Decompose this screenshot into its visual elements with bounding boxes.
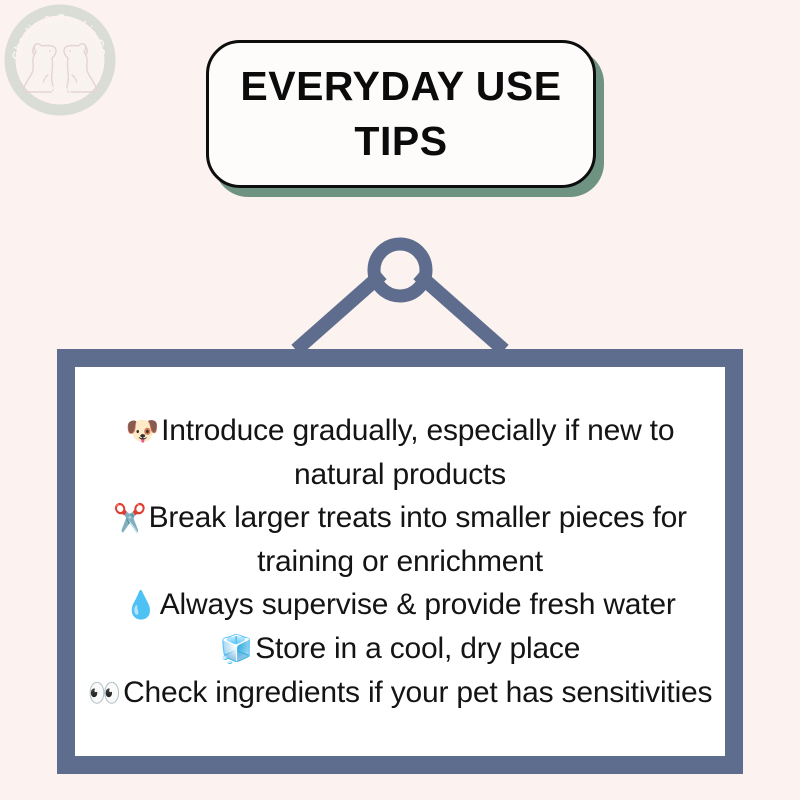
tip-text: Introduce gradually, especially if new t…: [161, 414, 674, 491]
page-title-line-2: TIPS: [354, 114, 447, 169]
tip-text: Store in a cool, dry place: [255, 632, 580, 665]
tip-text: Check ingredients if your pet has sensit…: [123, 676, 712, 709]
ice-cube-emoji: 🧊: [220, 634, 253, 664]
hanger-rope-left: [296, 274, 382, 350]
brand-watermark-logo: Charlie & Cookie Co. Dog Supplies: [4, 4, 116, 116]
tip-text: Break larger treats into smaller pieces …: [149, 501, 687, 578]
title-card: EVERYDAY USE TIPS: [206, 40, 596, 188]
svg-text:Dog Supplies: Dog Supplies: [32, 74, 88, 95]
tips-board: 🐶Introduce gradually, especially if new …: [57, 349, 743, 774]
tip-item: 🐶Introduce gradually, especially if new …: [85, 409, 715, 496]
dog-face-emoji: 🐶: [126, 416, 159, 446]
tip-item: 🧊Store in a cool, dry place: [85, 627, 715, 671]
scissors-emoji: ✂️: [113, 503, 146, 533]
brand-logo-icon: Charlie & Cookie Co. Dog Supplies: [4, 4, 116, 116]
tip-item: 👀Check ingredients if your pet has sensi…: [85, 671, 715, 715]
tip-item: ✂️Break larger treats into smaller piece…: [85, 496, 715, 583]
tips-board-inner: 🐶Introduce gradually, especially if new …: [75, 367, 725, 756]
hanger-rope-right: [418, 274, 504, 350]
svg-text:Charlie & Cookie Co.: Charlie & Cookie Co.: [11, 13, 109, 61]
brand-top-text: Charlie & Cookie Co.: [11, 13, 109, 61]
title-card-body: EVERYDAY USE TIPS: [206, 40, 596, 188]
tip-text: Always supervise & provide fresh water: [160, 588, 676, 621]
eyes-emoji: 👀: [88, 678, 121, 708]
droplet-emoji: 💧: [124, 590, 157, 620]
brand-bottom-text: Dog Supplies: [32, 74, 88, 95]
tip-item: 💧Always supervise & provide fresh water: [85, 583, 715, 627]
hanger-ring: [374, 244, 426, 296]
page-title-line-1: EVERYDAY USE: [240, 59, 561, 114]
sign-hanger: [0, 230, 800, 360]
